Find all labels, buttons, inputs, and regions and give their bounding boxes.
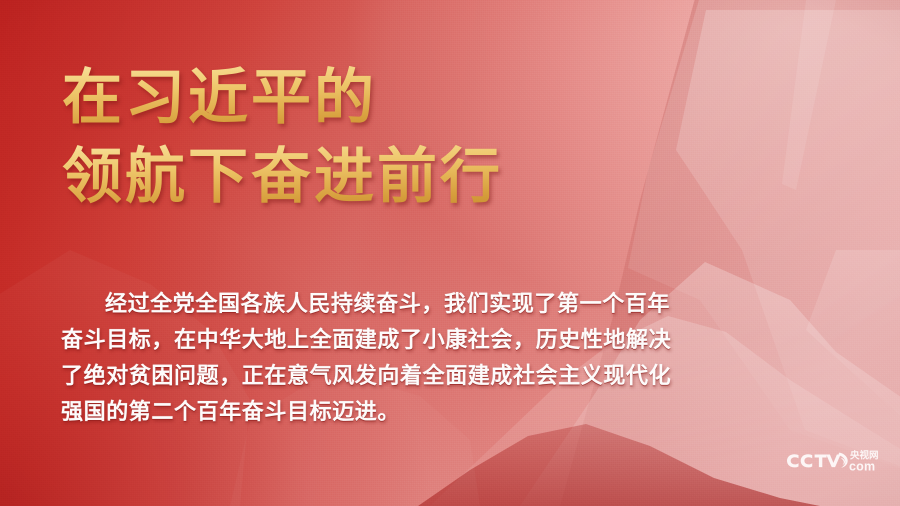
cctv-watermark: 央视网 com bbox=[783, 446, 887, 476]
body-line-1: 经过全党全国各族人民持续奋斗，我们实现了第一个百年 bbox=[61, 286, 641, 322]
body-line-2: 奋斗目标，在中华大地上全面建成了小康社会，历史性地解决 bbox=[61, 322, 641, 358]
poster-canvas: 在习近平的 领航下奋进前行 经过全党全国各族人民持续奋斗，我们实现了第一个百年 … bbox=[0, 0, 900, 506]
title-line-1: 在习近平的 bbox=[62, 60, 682, 137]
title-line-2: 领航下奋进前行 bbox=[62, 139, 682, 216]
poster-body-text: 经过全党全国各族人民持续奋斗，我们实现了第一个百年 奋斗目标，在中华大地上全面建… bbox=[61, 286, 641, 430]
body-line-3: 了绝对贫困问题，正在意气风发向着全面建成社会主义现代化 bbox=[61, 358, 641, 394]
body-line-4: 强国的第二个百年奋斗目标迈进。 bbox=[61, 394, 641, 430]
poster-title: 在习近平的 领航下奋进前行 bbox=[62, 60, 682, 216]
watermark-com-text: com bbox=[849, 460, 875, 474]
poster-content: 在习近平的 领航下奋进前行 经过全党全国各族人民持续奋斗，我们实现了第一个百年 … bbox=[0, 0, 900, 506]
